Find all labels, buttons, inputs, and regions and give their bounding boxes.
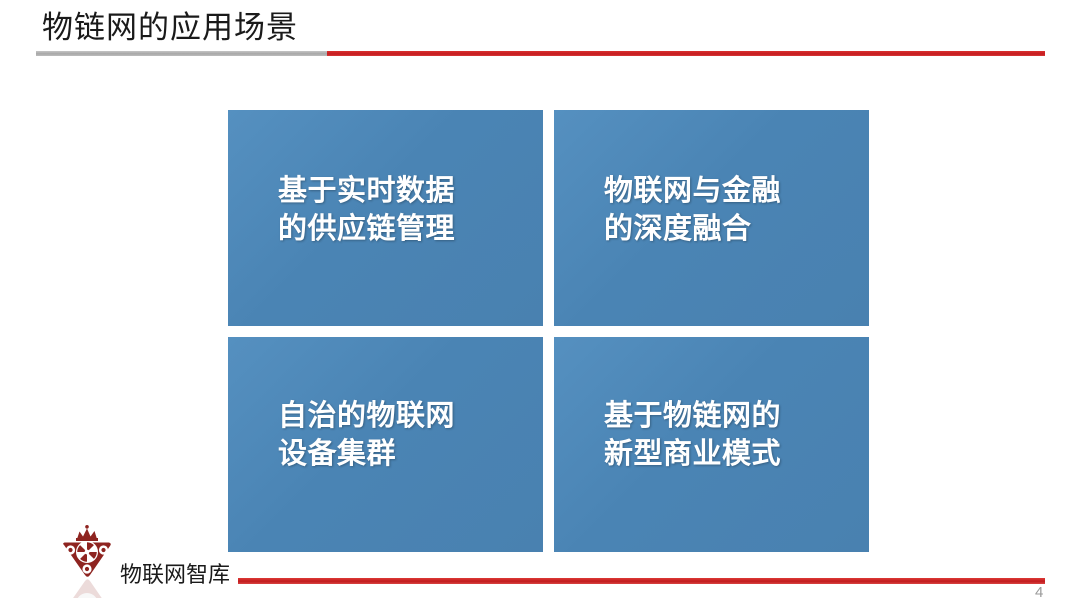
- footer-brand-label: 物联网智库: [120, 560, 230, 590]
- footer-divider: [238, 578, 1045, 584]
- page-title: 物链网的应用场景: [42, 8, 298, 48]
- panel-supply-chain-label: 基于实时数据 的供应链管理: [278, 172, 525, 248]
- panel-supply-chain[interactable]: 基于实时数据 的供应链管理: [228, 110, 543, 326]
- slide-canvas: 物链网的应用场景 基于实时数据 的供应链管理 物联网与金融 的深度融合 自治的物…: [0, 0, 1080, 608]
- panel-business-model-label: 基于物链网的 新型商业模式: [604, 397, 851, 473]
- header-divider-red-segment: [327, 51, 1045, 56]
- panel-grid: 基于实时数据 的供应链管理 物联网与金融 的深度融合 自治的物联网 设备集群 基…: [228, 110, 869, 552]
- crown-shield-logo-icon: [56, 524, 124, 598]
- panel-iot-finance-label: 物联网与金融 的深度融合: [604, 172, 851, 248]
- panel-iot-finance[interactable]: 物联网与金融 的深度融合: [554, 110, 869, 326]
- panel-autonomous-iot[interactable]: 自治的物联网 设备集群: [228, 337, 543, 553]
- header-divider-gray-segment: [36, 51, 327, 56]
- panel-business-model[interactable]: 基于物链网的 新型商业模式: [554, 337, 869, 553]
- page-number: 4: [1035, 583, 1043, 603]
- header-divider: [36, 51, 1045, 56]
- panel-autonomous-iot-label: 自治的物联网 设备集群: [278, 397, 525, 473]
